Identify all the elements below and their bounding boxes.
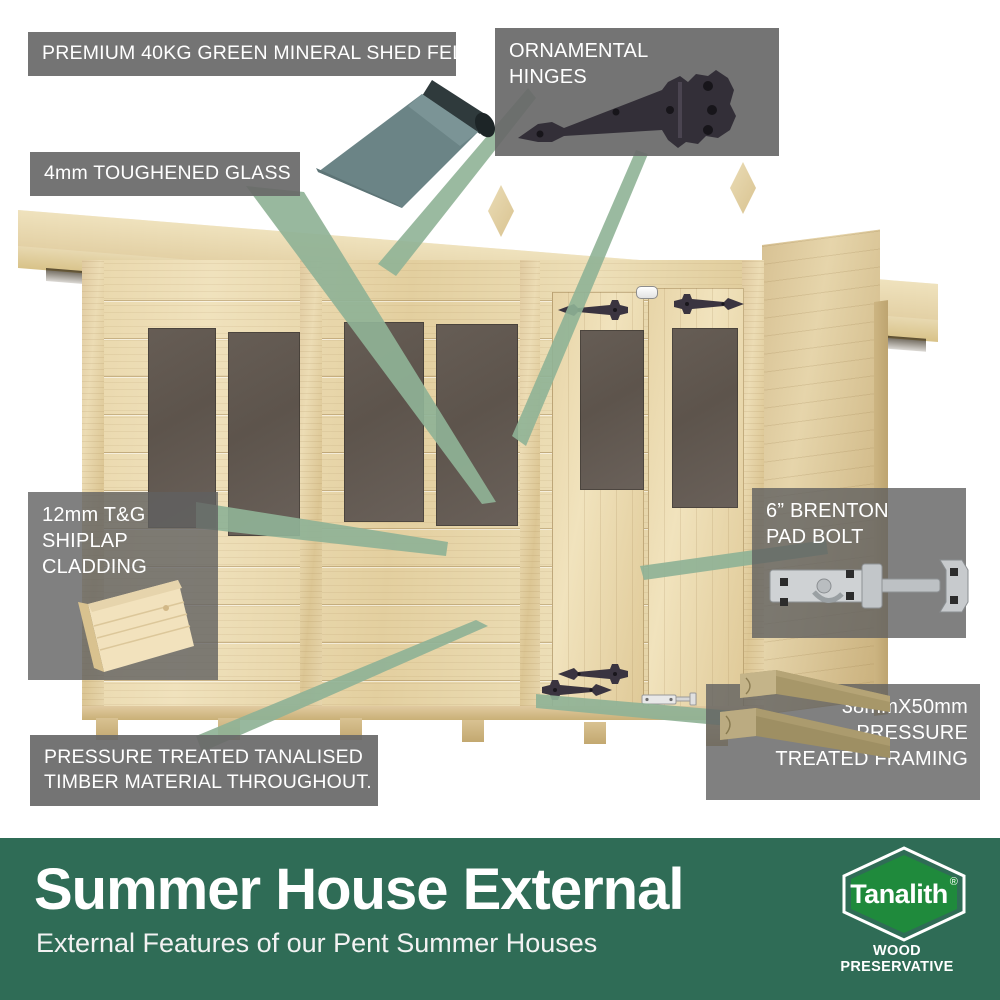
callout-hinges-line-1: ORNAMENTAL — [509, 38, 765, 64]
side-wall — [762, 229, 880, 715]
registered-trademark-icon: ® — [950, 876, 958, 888]
callout-felt-line-1: PREMIUM 40KG GREEN MINERAL SHED FELT — [42, 42, 442, 66]
felt-roll-thumbnail — [310, 76, 500, 211]
page-title: Summer House External — [34, 856, 683, 923]
infographic-canvas: PREMIUM 40KG GREEN MINERAL SHED FELT 4mm… — [0, 0, 1000, 1000]
corner-post-right — [742, 260, 764, 712]
timber-framing-thumbnail — [706, 668, 896, 783]
callout-cladding-line-2: SHIPLAP — [42, 528, 204, 554]
callout-pad-bolt-line-1: 6” BRENTON — [766, 498, 952, 524]
logo-subtitle: WOOD PRESERVATIVE — [816, 943, 978, 975]
page-subtitle: External Features of our Pent Summer Hou… — [36, 928, 597, 959]
ornamental-hinge-thumbnail — [512, 66, 752, 156]
pointer-hinges — [508, 150, 648, 450]
door-window-right — [672, 328, 738, 508]
callout-felt[interactable]: PREMIUM 40KG GREEN MINERAL SHED FELT — [28, 32, 456, 76]
footer-banner: Summer House External External Features … — [0, 838, 1000, 1000]
callout-pad-bolt-line-2: PAD BOLT — [766, 524, 952, 550]
callout-cladding-line-1: 12mm T&G — [42, 502, 204, 528]
tanalith-logo: Tanalith ® WOOD PRESERVATIVE — [816, 844, 984, 972]
callout-glass[interactable]: 4mm TOUGHENED GLASS — [30, 152, 300, 196]
tanalith-wordmark: Tanalith — [850, 879, 948, 910]
roof-finial-right — [730, 162, 756, 214]
callout-pressure-line-2: TIMBER MATERIAL THROUGHOUT. — [44, 770, 364, 795]
callout-pressure-treated[interactable]: PRESSURE TREATED TANALISED TIMBER MATERI… — [30, 735, 378, 806]
callout-pressure-line-1: PRESSURE TREATED TANALISED — [44, 745, 364, 770]
shiplap-board-thumbnail — [70, 568, 200, 678]
pad-bolt-thumbnail — [762, 548, 977, 623]
pointer-cladding — [196, 498, 456, 568]
callout-glass-line-1: 4mm TOUGHENED GLASS — [44, 162, 286, 186]
ornamental-hinge-top-right — [672, 292, 746, 316]
